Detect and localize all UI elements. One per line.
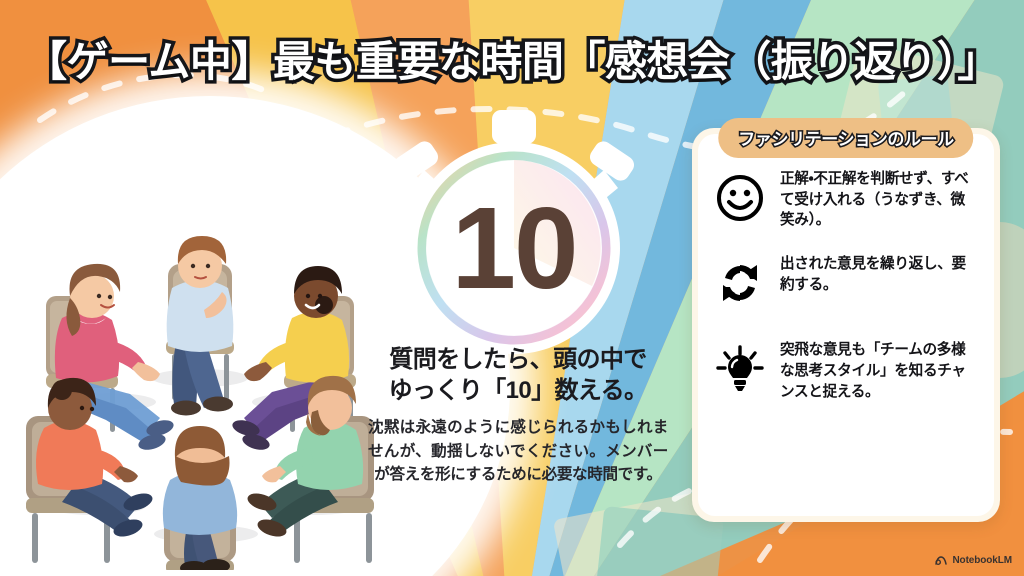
lightbulb-icon: [712, 341, 768, 397]
rule-item: 正解・不正解を判断せず、すべて受け入れる（うなずき、微笑み）。: [712, 168, 978, 231]
group-discussion-illustration: [0, 150, 400, 570]
notebooklm-watermark: NotebookLM: [935, 555, 1012, 566]
rule-item: 出された意見を繰り返し、要約する。: [712, 253, 978, 311]
center-headline-line-2: ゆっくり「10」数える。: [368, 376, 668, 407]
center-text-block: 質問をしたら、頭の中で ゆっくり「10」数える。 沈黙は永遠のように感じられるか…: [368, 345, 668, 486]
page-title: 【ゲーム中】最も重要な時間「感想会（振り返り）」: [0, 28, 1024, 89]
stopwatch-graphic: 10: [364, 108, 664, 358]
rule-item: 突飛な意見も「チームの多様な思考スタイル」を知るチャンスと捉える。: [712, 339, 978, 402]
rule-text: 正解・不正解を判断せず、すべて受け入れる（うなずき、微笑み）。: [780, 168, 978, 231]
stopwatch-digits: 10: [451, 183, 576, 313]
infographic-slide: 【ゲーム中】最も重要な時間「感想会（振り返り）」: [0, 0, 1024, 576]
center-body-text: 沈黙は永遠のように感じられるかもしれませんが、動揺しないでください。メンバーが答…: [368, 416, 668, 486]
smiley-face-icon: [712, 170, 768, 226]
center-headline: 質問をしたら、頭の中で ゆっくり「10」数える。: [368, 345, 668, 406]
facilitation-rules-panel: ファシリテーションのルール 正解・不正解を判断せず、すべて受け入れる（うなずき、…: [692, 128, 1000, 522]
notebooklm-logo-icon: [935, 555, 948, 566]
watermark-label: NotebookLM: [952, 555, 1012, 566]
panel-title-badge: ファシリテーションのルール: [718, 118, 973, 158]
rule-text: 出された意見を繰り返し、要約する。: [780, 253, 978, 295]
center-headline-line-1: 質問をしたら、頭の中で: [368, 345, 668, 376]
refresh-cycle-icon: [712, 255, 768, 311]
rule-text: 突飛な意見も「チームの多様な思考スタイル」を知るチャンスと捉える。: [780, 339, 978, 402]
